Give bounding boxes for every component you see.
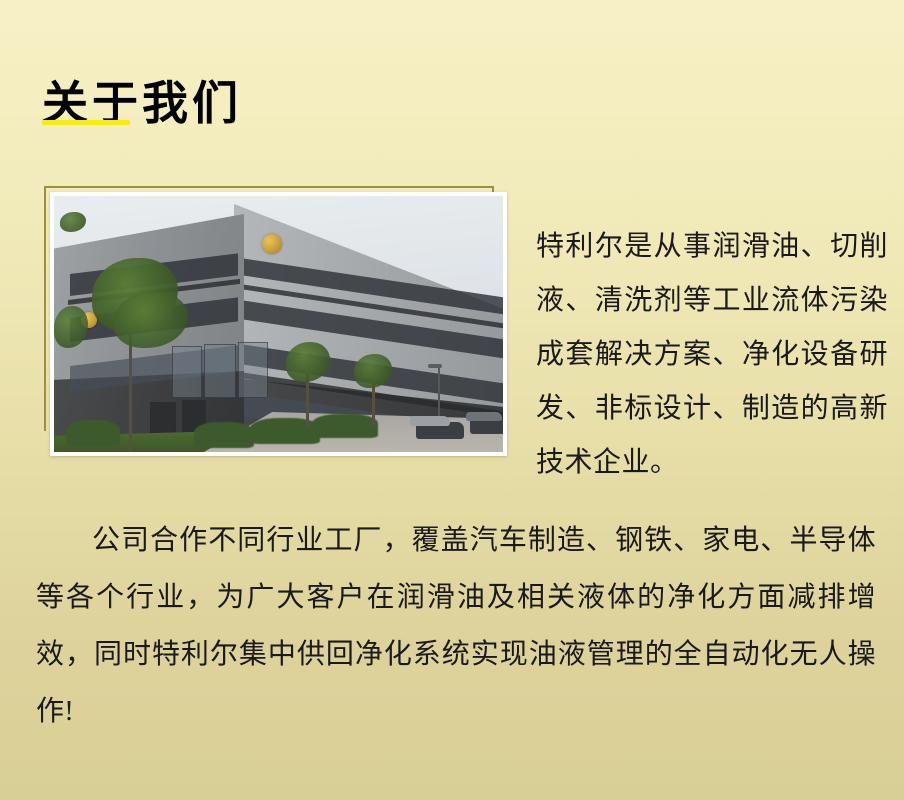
- hedge: [312, 414, 378, 438]
- street-lamp-head: [428, 364, 442, 368]
- parked-car: [466, 412, 502, 421]
- intro-paragraph: 特利尔是从事润滑油、切削液、清洗剂等工业流体污染成套解决方案、净化设备研发、非标…: [536, 220, 888, 490]
- parked-car: [410, 416, 450, 426]
- glass-pane: [238, 342, 268, 398]
- hedge: [194, 422, 254, 448]
- company-building-photo: [50, 192, 507, 456]
- hedge: [250, 418, 320, 444]
- glass-pane: [204, 344, 236, 398]
- building-photo-canvas: [54, 196, 503, 452]
- hedge: [66, 420, 120, 446]
- company-logo-emblem: [262, 234, 282, 254]
- about-us-section: 关于我们: [0, 0, 904, 800]
- title-accent-rule: [42, 120, 130, 125]
- body-paragraph: 公司合作不同行业工厂，覆盖汽车制造、钢铁、家电、半导体等各个行业，为广大客户在润…: [36, 512, 876, 740]
- glass-pane: [172, 346, 202, 398]
